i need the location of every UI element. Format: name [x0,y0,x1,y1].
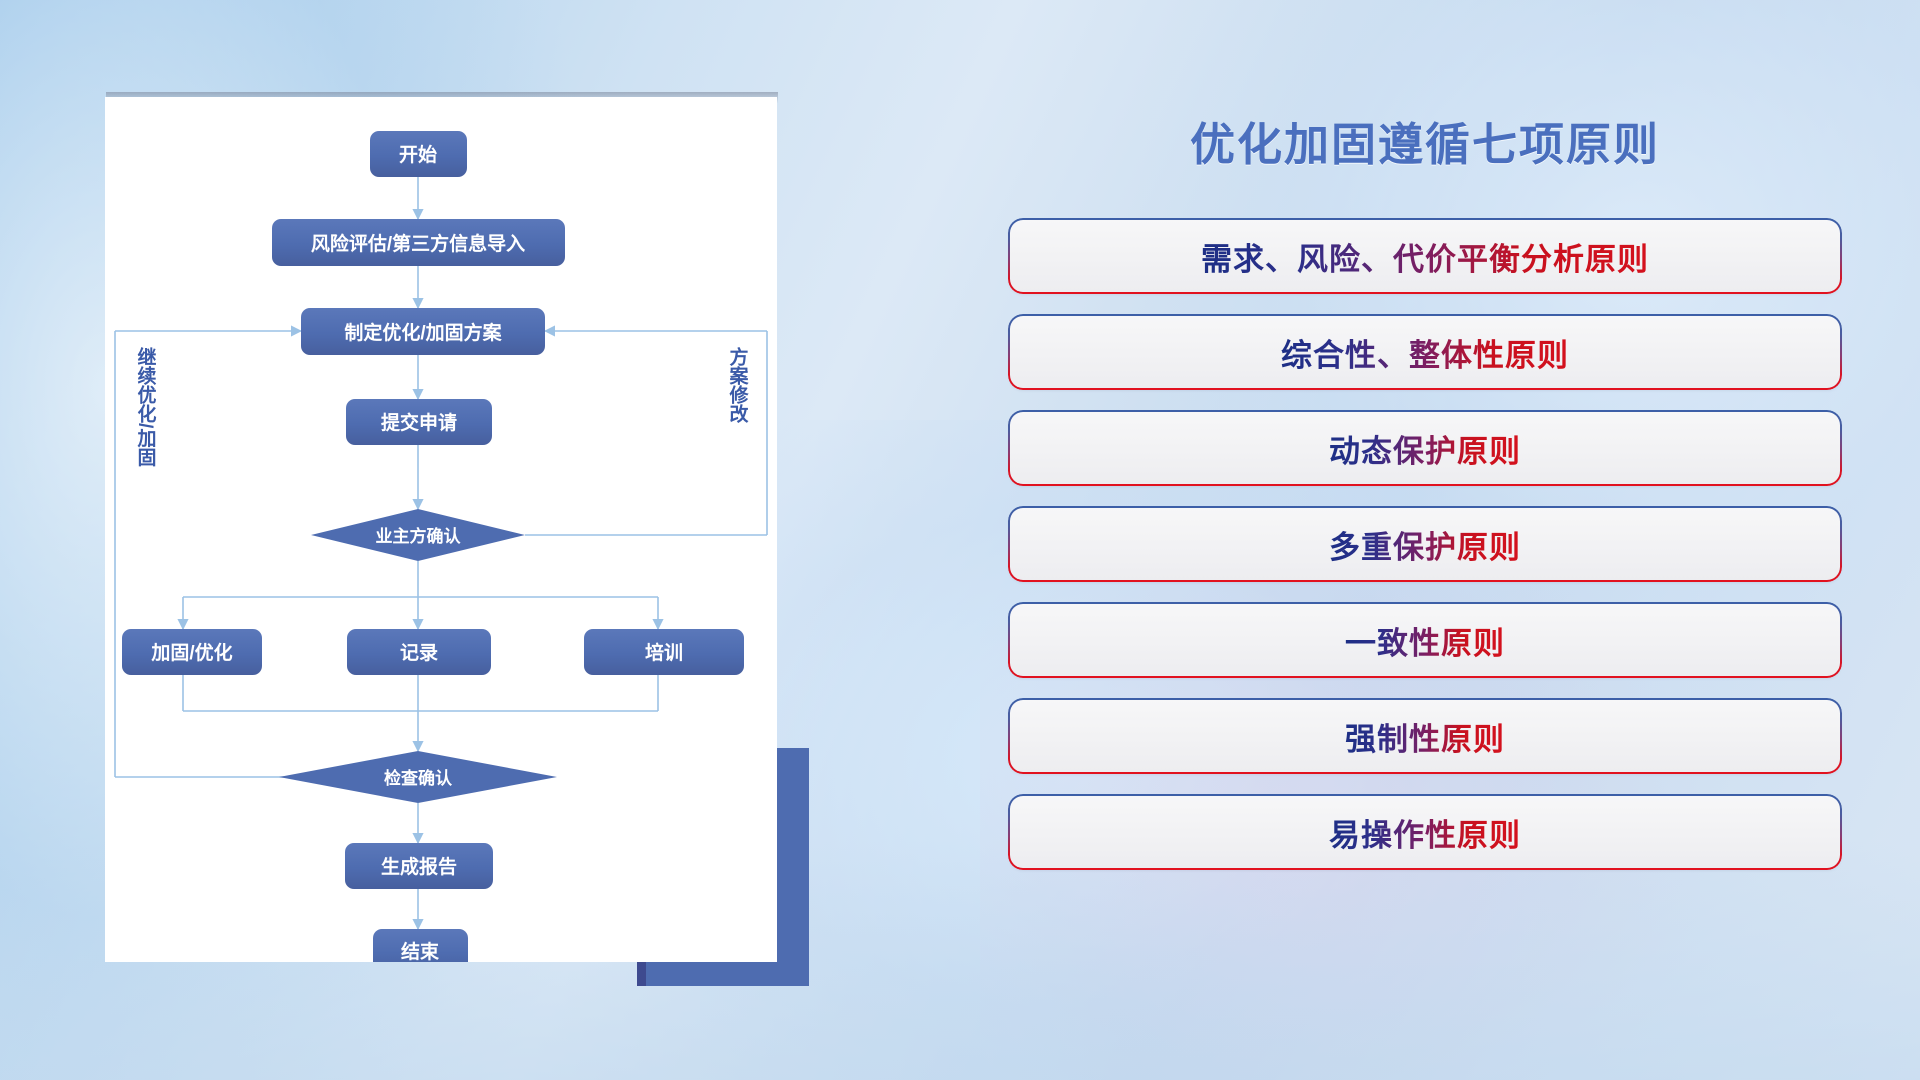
flow-node-report[interactable]: 生成报告 [345,843,493,889]
flow-node-check-confirm[interactable]: 检查确认 [279,751,557,803]
principle-label: 综合性、整体性原则 [1281,330,1569,375]
flow-node-end[interactable]: 结束 [373,929,468,962]
principle-item-4[interactable]: 多重保护原则 [1010,508,1840,580]
flow-node-owner-confirm[interactable]: 业主方确认 [311,509,525,561]
principle-label: 需求、风险、代价平衡分析原则 [1201,234,1649,279]
flow-node-plan[interactable]: 制定优化/加固方案 [301,308,545,355]
flow-node-label: 提交申请 [381,411,457,434]
principle-item-3[interactable]: 动态保护原则 [1010,412,1840,484]
slide-canvas: 开始 风险评估/第三方信息导入 制定优化/加固方案 提交申请 [0,0,1920,1080]
flow-node-label: 制定优化/加固方案 [344,321,502,344]
panel-title: 优化加固遵循七项原则 [1010,118,1840,172]
principle-label: 动态保护原则 [1329,426,1521,471]
flow-node-start[interactable]: 开始 [370,131,467,177]
principle-label: 强制性原则 [1345,714,1505,759]
flow-node-label: 开始 [399,143,437,166]
flow-node-label: 生成报告 [381,855,457,878]
flow-node-label: 检查确认 [384,768,453,788]
principle-item-6[interactable]: 强制性原则 [1010,700,1840,772]
flowchart-card: 开始 风险评估/第三方信息导入 制定优化/加固方案 提交申请 [105,97,777,962]
flow-node-risk-assessment[interactable]: 风险评估/第三方信息导入 [272,219,565,266]
flow-nodes: 开始 风险评估/第三方信息导入 制定优化/加固方案 提交申请 [122,131,744,962]
flow-node-reinforce[interactable]: 加固/优化 [122,629,262,675]
principle-item-2[interactable]: 综合性、整体性原则 [1010,316,1840,388]
flow-node-submit[interactable]: 提交申请 [346,399,492,445]
flow-node-label: 加固/优化 [150,641,232,664]
principle-label: 多重保护原则 [1329,522,1521,567]
flow-node-record[interactable]: 记录 [347,629,491,675]
flow-node-label: 业主方确认 [376,526,462,546]
flow-node-label: 培训 [645,641,683,664]
flowchart-diagram: 开始 风险评估/第三方信息导入 制定优化/加固方案 提交申请 [105,97,777,962]
flow-node-label: 结束 [401,940,440,962]
principles-panel: 优化加固遵循七项原则 需求、风险、代价平衡分析原则 综合性、整体性原则 动态保护… [1010,90,1840,1020]
flow-edge-label-plan-revision: 方案修改 [727,346,750,424]
principle-item-7[interactable]: 易操作性原则 [1010,796,1840,868]
principle-label: 易操作性原则 [1329,810,1521,855]
principle-item-5[interactable]: 一致性原则 [1010,604,1840,676]
principle-item-1[interactable]: 需求、风险、代价平衡分析原则 [1010,220,1840,292]
principles-list: 需求、风险、代价平衡分析原则 综合性、整体性原则 动态保护原则 多重保护原则 一… [1010,220,1840,868]
principle-label: 一致性原则 [1345,618,1505,663]
flow-node-training[interactable]: 培训 [584,629,744,675]
flow-edge-label-continue-optimize: 继续优化/加固 [135,346,158,467]
flow-node-label: 记录 [400,642,438,664]
flow-node-label: 风险评估/第三方信息导入 [311,232,525,255]
